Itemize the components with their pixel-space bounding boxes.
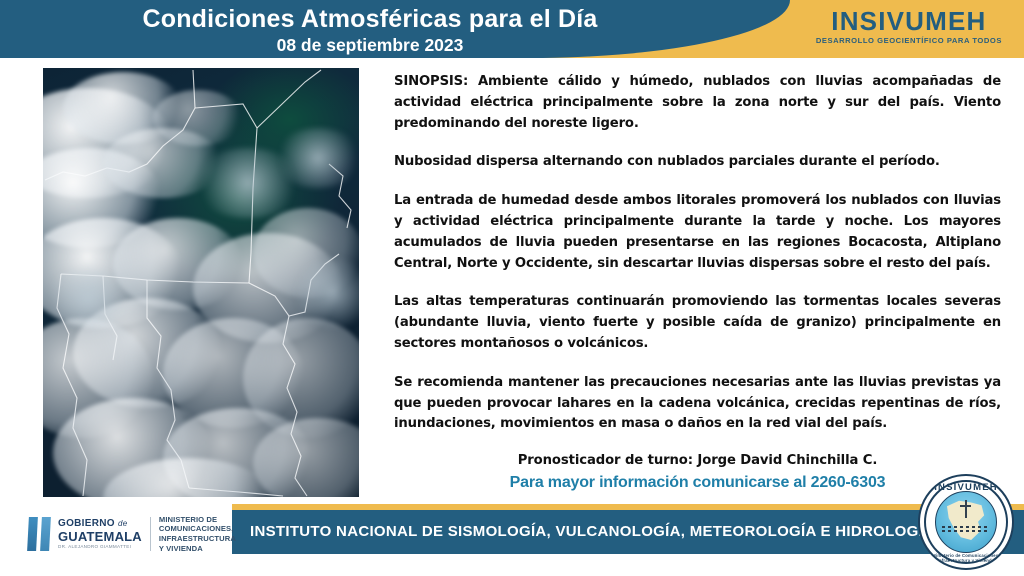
- paragraph-synopsis: SINOPSIS: Ambiente cálido y húmedo, nubl…: [394, 72, 1001, 134]
- bulletin-date: 08 de septiembre 2023: [0, 34, 740, 56]
- seal-bottom-label: Ministerio de Comunicaciones, Infraestru…: [920, 553, 1012, 563]
- gobierno-bars-icon: [28, 517, 50, 551]
- gobierno-line3: DR. ALEJANDRO GIAMMATTEI: [58, 545, 142, 550]
- page-footer: INSTITUTO NACIONAL DE SISMOLOGÍA, VULCAN…: [0, 500, 1024, 576]
- paragraph-moisture: La entrada de humedad desde ambos litora…: [394, 191, 1001, 274]
- seal-inner-disc: [935, 491, 997, 553]
- institute-full-name: INSTITUTO NACIONAL DE SISMOLOGÍA, VULCAN…: [250, 523, 934, 540]
- gobierno-guatemala-logo: GOBIERNO de GUATEMALA DR. ALEJANDRO GIAM…: [28, 514, 236, 554]
- weather-bulletin-page: Condiciones Atmosféricas para el Día 08 …: [0, 0, 1024, 576]
- logo-divider: [150, 517, 151, 551]
- gobierno-line1: GOBIERNO de: [58, 519, 142, 529]
- insivumeh-seal: INSIVUMEH Ministerio de Comunicaciones, …: [918, 474, 1014, 570]
- seal-cross-horizontal-icon: [960, 505, 971, 507]
- insivumeh-logo-tagline: DESARROLLO GEOCIENTÍFICO PARA TODOS: [816, 36, 1002, 46]
- gobierno-line1-text: GOBIERNO: [58, 518, 115, 529]
- insivumeh-logo-text: INSIVUMEH: [816, 7, 1002, 35]
- seal-top-label: INSIVUMEH: [920, 482, 1012, 493]
- gobierno-wordmark: GOBIERNO de GUATEMALA DR. ALEJANDRO GIAM…: [58, 519, 142, 550]
- satellite-image: [43, 68, 359, 497]
- page-title: Condiciones Atmosféricas para el Día: [0, 4, 740, 34]
- seal-wave2-icon: [942, 530, 990, 532]
- contact-info: Para mayor información comunicarse al 22…: [394, 474, 1001, 492]
- header-title-block: Condiciones Atmosféricas para el Día 08 …: [0, 4, 740, 56]
- gobierno-line1-italic: de: [118, 519, 128, 528]
- page-header: Condiciones Atmosféricas para el Día 08 …: [0, 0, 1024, 62]
- gobierno-line2: GUATEMALA: [58, 530, 142, 543]
- seal-wave-icon: [942, 526, 990, 528]
- seal-cross-vertical-icon: [965, 500, 967, 518]
- insivumeh-wordmark: INSIVUMEH DESARROLLO GEOCIENTÍFICO PARA …: [816, 7, 1002, 46]
- forecast-content: SINOPSIS: Ambiente cálido y húmedo, nubl…: [394, 72, 1001, 492]
- paragraph-cloudiness: Nubosidad dispersa alternando con nublad…: [394, 152, 1001, 173]
- ministerio-wordmark: MINISTERIO DE COMUNICACIONES, INFRAESTRU…: [159, 515, 236, 553]
- forecaster-name: Pronosticador de turno: Jorge David Chin…: [394, 453, 1001, 468]
- paragraph-recommendations: Se recomienda mantener las precauciones …: [394, 373, 1001, 435]
- paragraph-temperatures: Las altas temperaturas continuarán promo…: [394, 292, 1001, 354]
